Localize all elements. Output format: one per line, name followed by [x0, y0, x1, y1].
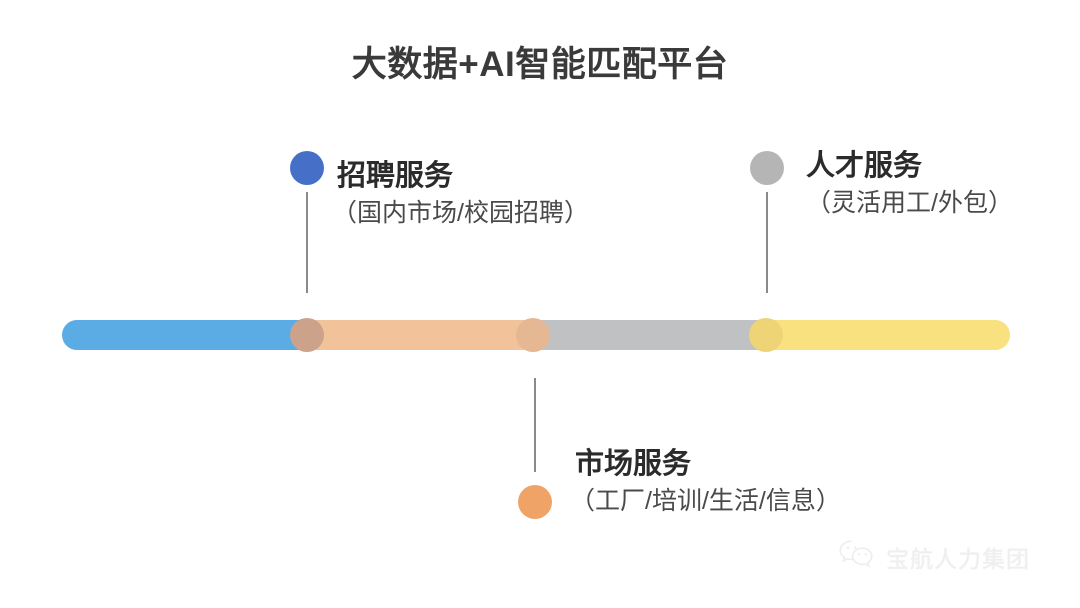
market-title: 市场服务: [575, 440, 691, 482]
watermark-text: 宝航人力集团: [886, 540, 1030, 574]
talent-dot[interactable]: [750, 151, 784, 185]
slide-canvas: 大数据+AI智能匹配平台 招聘服务 （国内市场/校园招聘） 人才服务 （灵活用工…: [0, 0, 1080, 608]
market-subtitle: （工厂/培训/生活/信息）: [570, 481, 841, 517]
talent-connector-line: [766, 192, 768, 293]
market-dot[interactable]: [518, 485, 552, 519]
page-title: 大数据+AI智能匹配平台: [0, 36, 1080, 87]
wechat-icon: [838, 538, 876, 575]
recruitment-connector-line: [306, 192, 308, 293]
bar-joint-talent-extra: [749, 318, 783, 352]
bar-joint-recruitment-market: [290, 318, 324, 352]
talent-subtitle: （灵活用工/外包）: [806, 183, 1013, 219]
recruitment-dot[interactable]: [290, 151, 324, 185]
bar-segment-market: [307, 320, 533, 350]
watermark: 宝航人力集团: [838, 538, 1030, 575]
bar-segment-extra: [766, 320, 1010, 350]
recruitment-subtitle: （国内市场/校园招聘）: [332, 193, 589, 229]
market-connector-line: [534, 378, 536, 472]
service-spectrum-bar: [62, 320, 1010, 350]
bar-segment-talent: [533, 320, 766, 350]
bar-segment-recruitment: [62, 320, 307, 350]
talent-title: 人才服务: [806, 142, 922, 184]
bar-joint-market-talent: [516, 318, 550, 352]
recruitment-title: 招聘服务: [337, 152, 453, 194]
